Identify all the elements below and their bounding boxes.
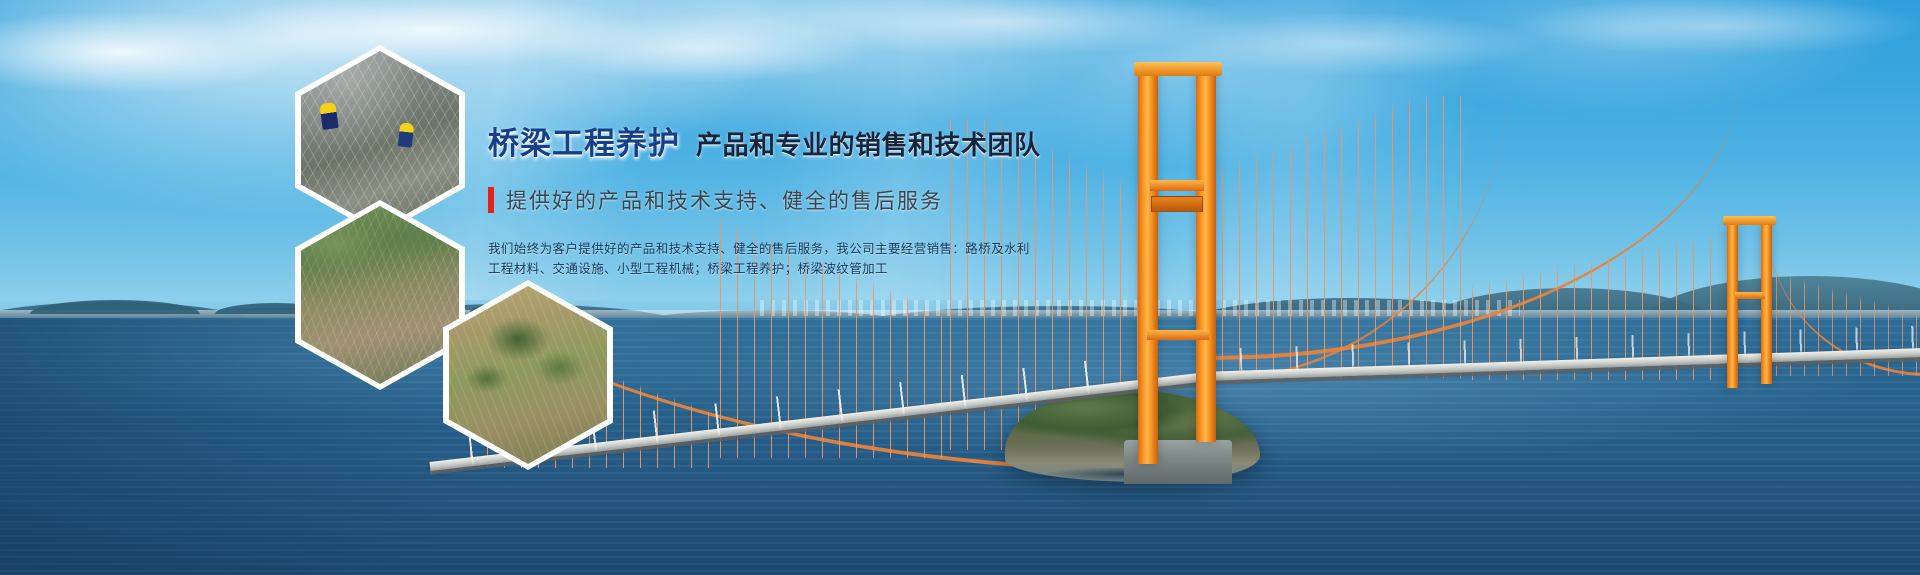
banner-headline: 桥梁工程养护 产品和专业的销售和技术团队 xyxy=(488,118,1108,163)
tower-name-plaque xyxy=(1151,196,1203,212)
far-tower-leg-right xyxy=(1761,222,1772,384)
bridge-tower-leg-right xyxy=(1196,70,1216,442)
paragraph-line: 工程材料、交通设施、小型工程机械；桥梁工程养护；桥梁波纹管加工 xyxy=(488,259,1108,279)
banner-paragraph: 我们始终为客户提供好的产品和技术支持、健全的售后服务，我公司主要经营销售：路桥及… xyxy=(488,239,1108,279)
far-tower-crossbeam xyxy=(1735,292,1765,299)
tower-crossbeam-lower xyxy=(1147,330,1209,340)
tower-crossbeam-upper xyxy=(1150,180,1204,191)
paragraph-line: 我们始终为客户提供好的产品和技术支持、健全的售后服务，我公司主要经营销售：路桥及… xyxy=(488,239,1108,259)
far-tower-saddle xyxy=(1723,216,1776,225)
bridge-tower-saddle xyxy=(1134,62,1222,76)
hanger-ropes xyxy=(1222,96,1472,378)
accent-bar xyxy=(488,187,494,213)
headline-sub-text: 产品和专业的销售和技术团队 xyxy=(696,125,1041,162)
bridge-tower-leg-left xyxy=(1138,72,1158,464)
banner-copy: 桥梁工程养护 产品和专业的销售和技术团队 提供好的产品和技术支持、健全的售后服务… xyxy=(488,118,1108,279)
far-tower-leg-left xyxy=(1727,222,1738,388)
subheadline-text: 提供好的产品和技术支持、健全的售后服务 xyxy=(506,185,943,215)
banner-subheadline: 提供好的产品和技术支持、健全的售后服务 xyxy=(488,185,1108,215)
hero-banner: 桥梁工程养护 产品和专业的销售和技术团队 提供好的产品和技术支持、健全的售后服务… xyxy=(0,0,1920,575)
headline-main-text: 桥梁工程养护 xyxy=(488,118,680,163)
suspension-bridge xyxy=(0,0,1920,575)
